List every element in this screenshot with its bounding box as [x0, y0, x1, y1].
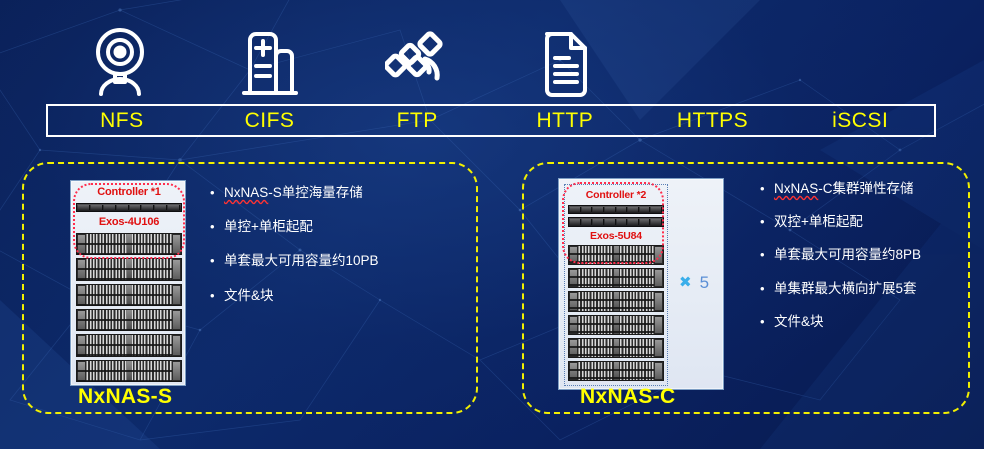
product-card-nxnas-c[interactable]: Controller *2 Exos-5U84	[522, 162, 970, 414]
list-item-text: 双控+单柜起配	[774, 213, 966, 231]
list-item-text: 文件&块	[774, 313, 966, 331]
feature-list-nxnas-c: • NxNAS-C集群弹性存储 • 双控+单柜起配 • 单套最大可用容量约8PB…	[760, 180, 966, 346]
disk-enclosure	[76, 284, 182, 306]
bullet-glyph: •	[760, 313, 774, 331]
disk-enclosure	[76, 360, 182, 382]
card-caption-nxnas-s: NxNAS-S	[78, 386, 172, 407]
list-item-text: NxNAS-C集群弹性存储	[774, 180, 966, 198]
protocol-icon-cell-cifs	[195, 18, 344, 98]
disk-enclosure	[76, 334, 182, 356]
feature-list-nxnas-s: • NxNAS-S单控海量存储 • 单控+单柜起配 • 单套最大可用容量约10P…	[210, 184, 462, 321]
protocol-label-cifs[interactable]: CIFS	[196, 110, 344, 131]
misspelled-word: NxNAS	[774, 181, 818, 196]
list-item-text: 文件&块	[224, 287, 462, 305]
disk-enclosure	[568, 361, 664, 381]
disk-enclosure	[76, 233, 182, 255]
disk-enclosure	[76, 258, 182, 280]
rack-diagram-nxnas-s: Controller *1 Exos-4U106	[70, 180, 186, 386]
card-caption-nxnas-c: NxNAS-C	[580, 386, 675, 407]
rack-diagram-nxnas-c: Controller *2 Exos-5U84	[558, 178, 724, 390]
webcam-icon	[90, 26, 150, 98]
disk-enclosure	[568, 315, 664, 335]
bullet-glyph: •	[210, 252, 224, 270]
list-item: • 单集群最大横向扩展5套	[760, 280, 966, 298]
disk-enclosure	[76, 309, 182, 331]
protocol-icon-cell-http	[492, 18, 641, 98]
list-item-text: 单套最大可用容量约10PB	[224, 252, 462, 270]
satellite-icon	[385, 26, 451, 98]
list-item: • NxNAS-S单控海量存储	[210, 184, 462, 202]
controller-count-label-left: Controller *1	[76, 186, 182, 200]
slide-canvas: NFS CIFS FTP HTTP HTTPS iSCSI Controller…	[0, 0, 984, 449]
protocol-icon-cell-nfs	[46, 18, 195, 98]
enclosure-model-label-left: Exos-4U106	[76, 215, 182, 230]
bullet-glyph: •	[760, 280, 774, 298]
enclosure-model-label-right: Exos-5U84	[568, 230, 664, 243]
protocol-label-ftp[interactable]: FTP	[343, 110, 491, 131]
protocol-icon-cell-ftp	[343, 18, 492, 98]
buildings-icon	[238, 26, 300, 98]
list-item: • 文件&块	[760, 313, 966, 331]
disk-enclosure	[568, 338, 664, 358]
list-item: • 单控+单柜起配	[210, 218, 462, 236]
controller-unit	[76, 203, 182, 212]
controller-unit	[568, 205, 664, 215]
list-item: • NxNAS-C集群弹性存储	[760, 180, 966, 198]
controller-unit	[568, 217, 664, 227]
list-item: • 单套最大可用容量约8PB	[760, 246, 966, 264]
protocol-label-bar: NFS CIFS FTP HTTP HTTPS iSCSI	[46, 104, 936, 137]
protocol-icons-row	[46, 18, 938, 98]
disk-enclosure	[568, 268, 664, 288]
protocol-label-iscsi[interactable]: iSCSI	[786, 110, 934, 131]
bullet-glyph: •	[760, 213, 774, 231]
protocol-icon-cell-iscsi	[789, 18, 938, 98]
bullet-glyph: •	[210, 218, 224, 236]
protocol-label-http[interactable]: HTTP	[491, 110, 639, 131]
product-card-nxnas-s[interactable]: Controller *1 Exos-4U106	[22, 162, 478, 414]
bullet-glyph: •	[210, 184, 224, 202]
list-item-text: 单套最大可用容量约8PB	[774, 246, 966, 264]
multiply-icon: ✖	[679, 275, 692, 290]
disk-enclosure	[568, 245, 664, 265]
protocol-label-https[interactable]: HTTPS	[639, 110, 787, 131]
list-item: • 单套最大可用容量约10PB	[210, 252, 462, 270]
list-item: • 双控+单柜起配	[760, 213, 966, 231]
list-item-text: NxNAS-S单控海量存储	[224, 184, 462, 202]
document-icon	[537, 26, 595, 98]
list-item: • 文件&块	[210, 287, 462, 305]
bullet-glyph: •	[210, 287, 224, 305]
multiplier-value: 5	[700, 274, 709, 291]
protocol-label-nfs[interactable]: NFS	[48, 110, 196, 131]
list-item-text: 单集群最大横向扩展5套	[774, 280, 966, 298]
misspelled-word: NxNAS	[224, 185, 268, 200]
list-item-text: 单控+单柜起配	[224, 218, 462, 236]
controller-count-label-right: Controller *2	[568, 189, 664, 202]
disk-enclosure	[568, 291, 664, 311]
bullet-glyph: •	[760, 180, 774, 198]
bullet-glyph: •	[760, 246, 774, 264]
rack-multiplier: ✖ 5	[679, 274, 709, 291]
protocol-icon-cell-https	[641, 18, 790, 98]
